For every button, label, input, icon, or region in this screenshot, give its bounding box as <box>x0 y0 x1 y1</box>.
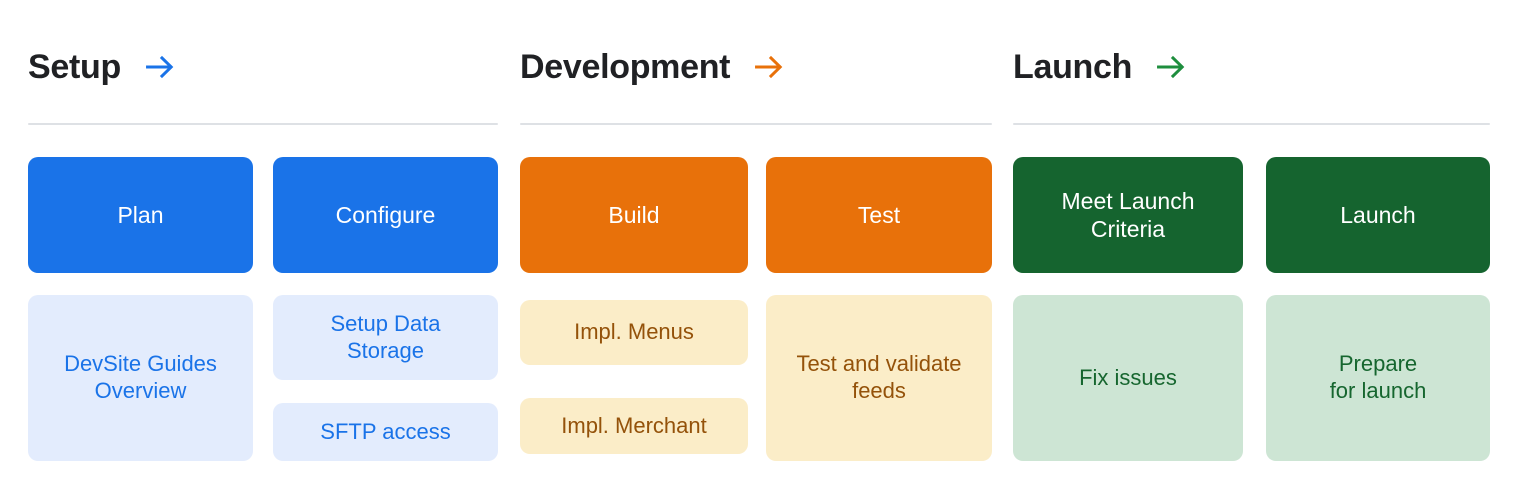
primary-card-label: Test <box>858 201 900 229</box>
phase-divider-launch <box>1013 123 1490 125</box>
phase-divider-development <box>520 123 992 125</box>
primary-card-test[interactable]: Test <box>766 157 992 273</box>
sub-card-label: Test and validate feeds <box>796 351 961 405</box>
phase-column-setup: Setup Plan DevSite Guides Overview Confi… <box>28 0 498 484</box>
primary-card-plan[interactable]: Plan <box>28 157 253 273</box>
sub-card-sftp-access[interactable]: SFTP access <box>273 403 498 461</box>
primary-card-build[interactable]: Build <box>520 157 748 273</box>
sub-card-label: Impl. Menus <box>574 319 694 346</box>
sub-card-label: Impl. Merchant <box>561 413 707 440</box>
sub-card-impl-merchant[interactable]: Impl. Merchant <box>520 398 748 454</box>
phase-header-setup: Setup <box>28 44 177 90</box>
sub-card-label: Setup Data Storage <box>330 311 440 365</box>
sub-card-label: SFTP access <box>320 419 450 446</box>
arrow-right-icon <box>1154 50 1188 84</box>
phase-title-development: Development <box>520 50 730 84</box>
sub-card-setup-data-storage[interactable]: Setup Data Storage <box>273 295 498 380</box>
primary-card-label: Configure <box>336 201 436 229</box>
primary-card-label: Launch <box>1340 201 1415 229</box>
primary-card-label: Build <box>608 201 659 229</box>
primary-card-label: Plan <box>117 201 163 229</box>
primary-card-meet-launch-criteria[interactable]: Meet Launch Criteria <box>1013 157 1243 273</box>
arrow-right-icon <box>143 50 177 84</box>
diagram-canvas: Setup Plan DevSite Guides Overview Confi… <box>0 0 1518 484</box>
phase-title-setup: Setup <box>28 50 121 84</box>
sub-card-devsite-guides-overview[interactable]: DevSite Guides Overview <box>28 295 253 461</box>
phase-column-development: Development Build Impl. Menus Impl. Merc… <box>520 0 992 484</box>
phase-header-development: Development <box>520 44 786 90</box>
sub-card-label: Prepare for launch <box>1330 351 1427 405</box>
sub-card-fix-issues[interactable]: Fix issues <box>1013 295 1243 461</box>
sub-card-test-and-validate-feeds[interactable]: Test and validate feeds <box>766 295 992 461</box>
phase-title-launch: Launch <box>1013 50 1132 84</box>
sub-card-prepare-for-launch[interactable]: Prepare for launch <box>1266 295 1490 461</box>
sub-card-impl-menus[interactable]: Impl. Menus <box>520 300 748 365</box>
phase-header-launch: Launch <box>1013 44 1188 90</box>
arrow-right-icon <box>752 50 786 84</box>
phase-divider-setup <box>28 123 498 125</box>
sub-card-label: Fix issues <box>1079 365 1177 392</box>
sub-card-label: DevSite Guides Overview <box>64 351 217 405</box>
primary-card-configure[interactable]: Configure <box>273 157 498 273</box>
primary-card-launch[interactable]: Launch <box>1266 157 1490 273</box>
primary-card-label: Meet Launch Criteria <box>1062 187 1195 243</box>
phase-column-launch: Launch Meet Launch Criteria Fix issues L… <box>1013 0 1490 484</box>
